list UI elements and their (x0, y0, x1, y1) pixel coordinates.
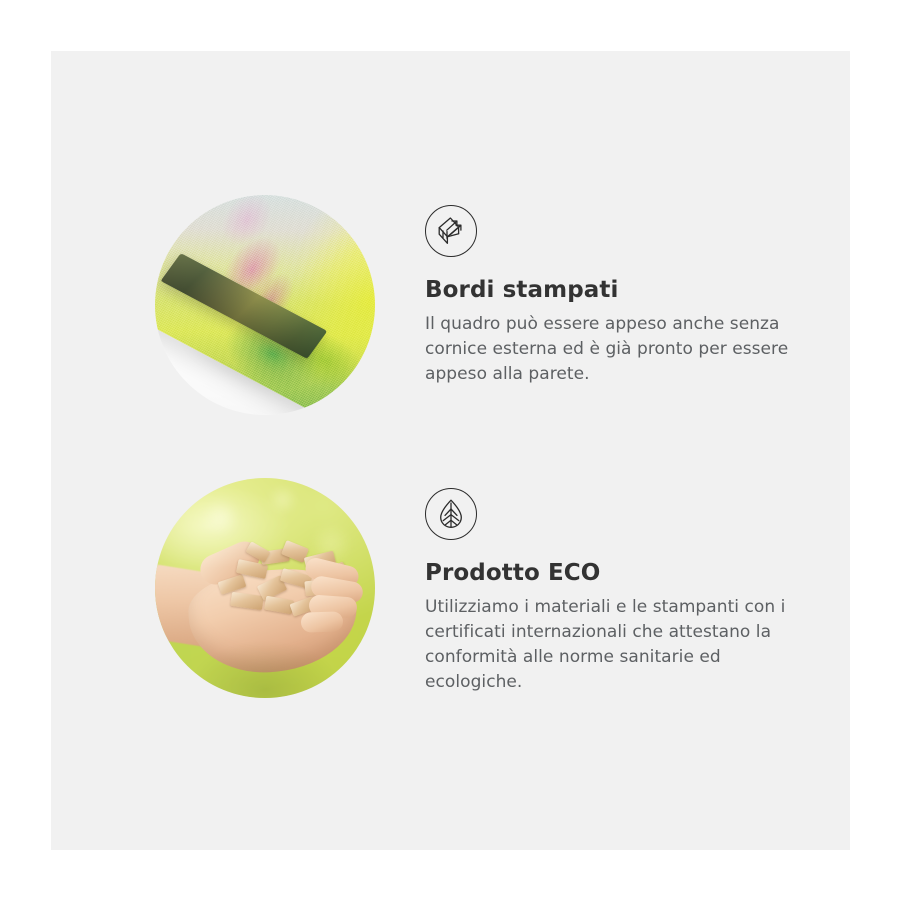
feature-block-eco-product: Prodotto ECO Utilizziamo i materiali e l… (51, 478, 850, 758)
leaf-icon (425, 488, 477, 540)
content-panel: Bordi stampati Il quadro può essere appe… (51, 51, 850, 850)
canvas-corner-photo (155, 195, 375, 415)
feature-title-eco-product: Prodotto ECO (425, 560, 805, 586)
canvas-corner-illustration (155, 195, 375, 415)
feature-block-printed-edges: Bordi stampati Il quadro può essere appe… (51, 195, 850, 465)
hands-wood-chips-illustration (155, 478, 375, 698)
hands-wood-chips-photo (155, 478, 375, 698)
photo-lighting-overlay (155, 478, 375, 698)
feature-title-printed-edges: Bordi stampati (425, 277, 805, 303)
feature-description-printed-edges: Il quadro può essere appeso anche senza … (425, 312, 805, 387)
page-root: Bordi stampati Il quadro può essere appe… (0, 0, 900, 900)
canvas-wrapped-edge-icon (425, 205, 477, 257)
printed-edges-text-column: Bordi stampati Il quadro può essere appe… (425, 205, 805, 387)
feature-description-eco-product: Utilizziamo i materiali e le stampanti c… (425, 595, 805, 695)
eco-product-text-column: Prodotto ECO Utilizziamo i materiali e l… (425, 488, 805, 695)
